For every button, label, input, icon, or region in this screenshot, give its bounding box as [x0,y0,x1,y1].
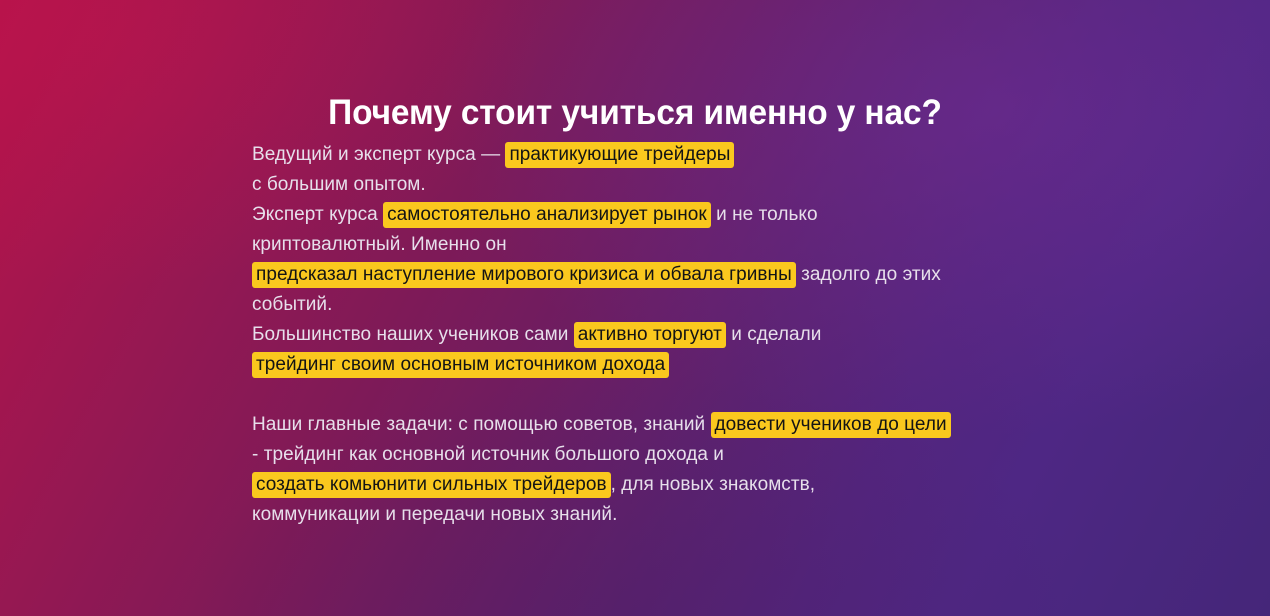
plain-text: , для новых знакомств, [611,474,816,495]
plain-text: Ведущий и эксперт курса — [252,144,505,165]
plain-text: - трейдинг как основной источник большог… [252,444,724,465]
line-7: Большинство наших учеников сами активно … [252,320,1052,350]
line-2: с большим опытом. [252,170,1052,200]
plain-text: Большинство наших учеников сами [252,324,574,345]
highlighted-text: трейдинг своим основным источником доход… [252,352,669,378]
plain-text: и не только [711,204,818,225]
line-4: криптовалютный. Именно он [252,230,1052,260]
slide-content: Почему стоит учиться именно у нас? Ведущ… [0,0,1270,616]
line-12: коммуникации и передачи новых знаний. [252,500,1052,530]
paragraph-2: Наши главные задачи: с помощью советов, … [252,410,1052,530]
plain-text: Наши главные задачи: с помощью советов, … [252,414,711,435]
plain-text: криптовалютный. Именно он [252,234,507,255]
highlighted-text: активно торгуют [574,322,726,348]
highlighted-text: практикующие трейдеры [505,142,734,168]
line-11: создать комьюнити сильных трейдеров, для… [252,470,1052,500]
highlighted-text: предсказал наступление мирового кризиса … [252,262,796,288]
highlighted-text: самостоятельно анализирует рынок [383,202,711,228]
highlighted-text: создать комьюнити сильных трейдеров [252,472,611,498]
page-title: Почему стоит учиться именно у нас? [29,91,1242,135]
line-8: трейдинг своим основным источником доход… [252,350,1052,380]
line-9: Наши главные задачи: с помощью советов, … [252,410,1052,440]
plain-text: событий. [252,294,332,315]
plain-text: задолго до этих [796,264,941,285]
slide-canvas: Почему стоит учиться именно у нас? Ведущ… [0,0,1270,616]
plain-text: Эксперт курса [252,204,383,225]
line-6: событий. [252,290,1052,320]
paragraph-spacer [252,380,1052,410]
line-1: Ведущий и эксперт курса — практикующие т… [252,140,1052,170]
plain-text: коммуникации и передачи новых знаний. [252,504,617,525]
plain-text: с большим опытом. [252,174,426,195]
slide-body-text: Ведущий и эксперт курса — практикующие т… [252,140,1052,530]
line-3: Эксперт курса самостоятельно анализирует… [252,200,1052,230]
line-10: - трейдинг как основной источник большог… [252,440,1052,470]
highlighted-text: довести учеников до цели [711,412,951,438]
line-5: предсказал наступление мирового кризиса … [252,260,1052,290]
plain-text: и сделали [726,324,822,345]
paragraph-1: Ведущий и эксперт курса — практикующие т… [252,140,1052,380]
